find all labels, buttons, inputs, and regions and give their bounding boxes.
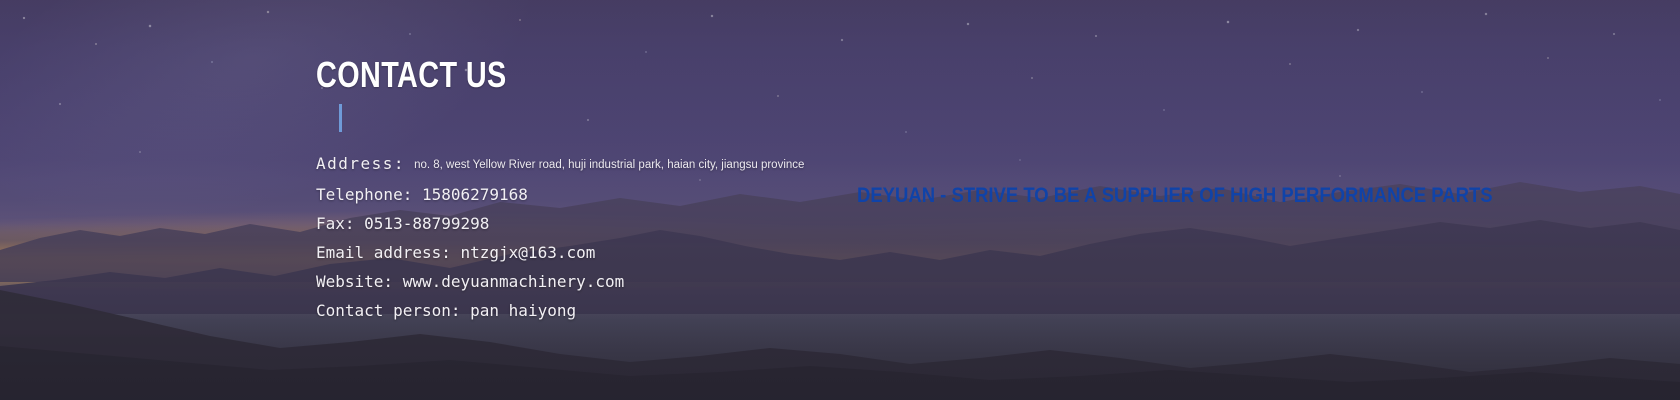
telephone-value[interactable]: 15806279168: [422, 185, 528, 204]
contact-details-list: Address:no. 8, west Yellow River road, h…: [316, 149, 804, 325]
contact-row-website: Website: www.deyuanmachinery.com: [316, 267, 804, 296]
contact-row-address: Address:no. 8, west Yellow River road, h…: [316, 149, 804, 180]
company-tagline: DEYUAN - STRIVE TO BE A SUPPLIER OF HIGH…: [857, 184, 1493, 208]
contact-row-person: Contact person: pan haiyong: [316, 296, 804, 325]
website-value[interactable]: www.deyuanmachinery.com: [403, 272, 625, 291]
title-accent-bar: [339, 104, 342, 132]
contact-info-block: CONTACT US Address:no. 8, west Yellow Ri…: [316, 55, 804, 325]
email-value[interactable]: ntzgjx@163.com: [461, 243, 596, 262]
contact-row-email: Email address: ntzgjx@163.com: [316, 238, 804, 267]
address-label: Address:: [316, 154, 405, 173]
telephone-label: Telephone:: [316, 185, 412, 204]
contact-row-fax: Fax: 0513-88799298: [316, 209, 804, 238]
email-label: Email address:: [316, 243, 451, 262]
website-label: Website:: [316, 272, 393, 291]
banner-content: CONTACT US Address:no. 8, west Yellow Ri…: [0, 0, 1680, 400]
fax-value: 0513-88799298: [364, 214, 489, 233]
fax-label: Fax:: [316, 214, 355, 233]
contact-row-telephone: Telephone: 15806279168: [316, 180, 804, 209]
contact-us-footer-banner: CONTACT US Address:no. 8, west Yellow Ri…: [0, 0, 1680, 400]
contact-person-value: pan haiyong: [470, 301, 576, 320]
contact-person-label: Contact person:: [316, 301, 461, 320]
address-value: no. 8, west Yellow River road, huji indu…: [405, 159, 804, 171]
page-title: CONTACT US: [316, 55, 707, 95]
